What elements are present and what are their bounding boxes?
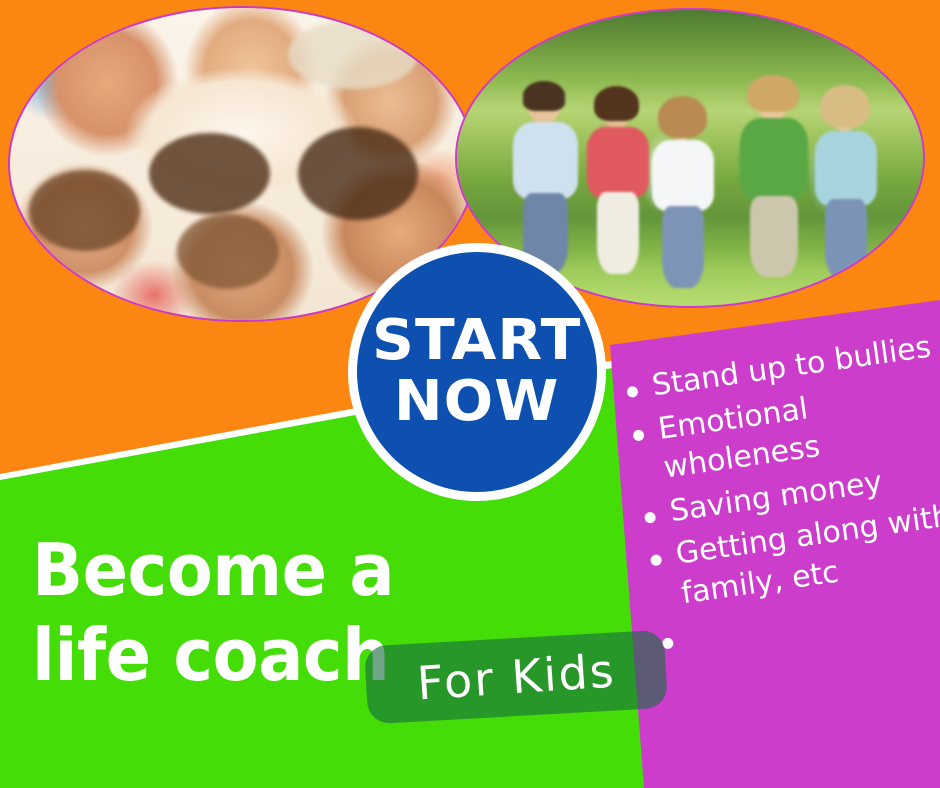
hair-shape	[288, 20, 418, 89]
for-kids-badge: For Kids	[364, 630, 668, 725]
bullet-dot-icon	[626, 386, 638, 398]
benefits-list: Stand up to bullies Emotional wholeness …	[612, 325, 940, 661]
list-item-label: Emotional wholeness	[656, 391, 822, 486]
runner-figure	[737, 84, 812, 273]
hair-shape	[149, 133, 270, 214]
for-kids-badge-label: For Kids	[415, 643, 617, 710]
bullet-dot-icon	[632, 429, 644, 441]
bullet-dot-icon	[644, 511, 656, 523]
runner-figure	[811, 96, 881, 274]
start-now-button[interactable]: START NOW	[348, 243, 606, 501]
hair-shape	[177, 214, 279, 289]
runner-figure	[508, 87, 583, 271]
start-now-line-2: NOW	[394, 375, 560, 430]
runner-figure	[648, 105, 718, 283]
hair-shape	[29, 170, 140, 251]
hair-shape	[298, 127, 419, 221]
poster-canvas: Five smiling children lying in a circle …	[0, 0, 940, 788]
runner-figure	[583, 93, 653, 271]
start-now-line-1: START	[372, 314, 581, 369]
bullet-dot-icon	[650, 554, 662, 566]
